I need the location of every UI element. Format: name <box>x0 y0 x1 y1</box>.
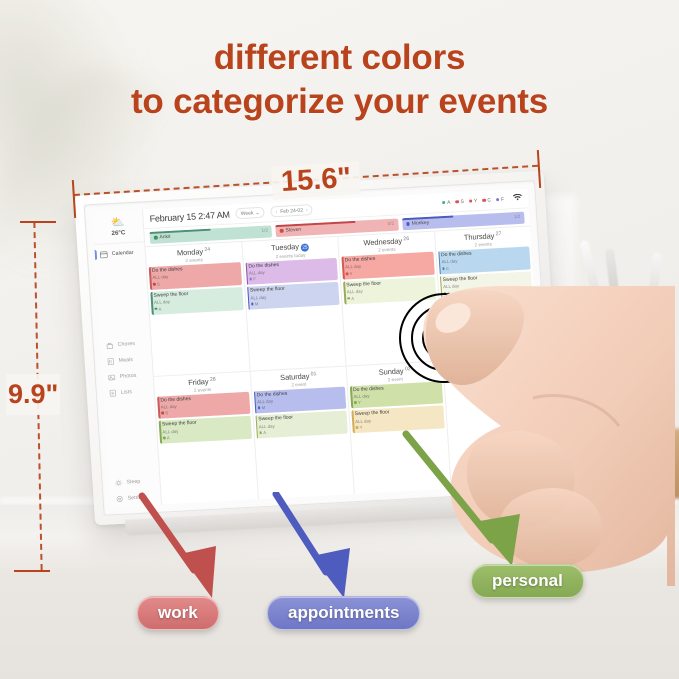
meals-icon <box>106 357 115 365</box>
day-name: Tuesday <box>271 242 299 252</box>
category-pill-personal: personal <box>471 564 584 598</box>
day-events-list: Do the dishesALL dayMSweep the floorALL … <box>253 386 347 438</box>
assignee-color-dot <box>347 297 350 300</box>
sidebar-item-label: Settings <box>127 494 147 501</box>
person-initial: Y <box>474 198 478 204</box>
day-column-next[interactable]: NextMar 03 <box>443 356 547 489</box>
person-initial: S <box>460 198 464 204</box>
day-number: 26 <box>403 236 409 242</box>
week-row: Friday282 eventsDo the dishesALL daySSwe… <box>154 355 547 505</box>
weather-widget[interactable]: ⛅ 26°C <box>92 209 144 245</box>
sidebar-item-calendar[interactable]: Calendar <box>94 244 145 263</box>
person-initial: A <box>447 199 451 205</box>
day-number: 28 <box>210 376 216 382</box>
dimension-width-label: 15.6" <box>271 161 361 199</box>
calendar-event[interactable]: Sweep the floorALL dayY <box>351 406 444 434</box>
photos-icon <box>107 373 116 381</box>
calendar-event[interactable]: Do the dishesALL dayC <box>438 246 531 274</box>
calendar-icon <box>100 250 109 258</box>
assignee-color-dot <box>259 431 262 434</box>
day-column-monday[interactable]: Monday242 eventsDo the dishesALL daySSwe… <box>145 242 250 375</box>
calendar-event[interactable]: Sweep the floorALL dayA <box>343 276 436 304</box>
member-name-wrap: Steven <box>280 227 302 234</box>
sidebar-item-settings[interactable]: Settings <box>110 489 161 508</box>
member-progress-bar <box>149 229 210 234</box>
calendar-event[interactable]: Do the dishesALL dayY <box>350 381 443 409</box>
people-filter-list: ASYCF <box>442 196 504 205</box>
day-name: Sunday <box>378 366 403 376</box>
week-row: Monday242 eventsDo the dishesALL daySSwe… <box>145 225 538 375</box>
person-filter-F[interactable]: F <box>496 196 505 202</box>
member-task-count: 1/2 <box>514 214 521 219</box>
day-name: Friday <box>188 376 209 386</box>
day-events-list: Do the dishesALL dayYSweep the floorALL … <box>341 252 435 304</box>
assignee-color-dot <box>257 407 260 410</box>
calendar-app: ⛅ 26°C CalendarChoresMealsPhotosListsSle… <box>92 188 546 507</box>
assignee-color-dot <box>251 303 254 306</box>
assignee-color-dot <box>345 272 348 275</box>
member-color-dot <box>154 236 158 240</box>
person-color-dot <box>469 199 473 203</box>
day-column-thursday[interactable]: Thursday272 eventsDo the dishesALL dayCS… <box>435 226 539 359</box>
person-initial: C <box>487 197 491 203</box>
day-column-wednesday[interactable]: Wednesday262 eventsDo the dishesALL dayY… <box>338 232 443 365</box>
calendar-event[interactable]: Sweep the floorALL dayA <box>150 287 243 315</box>
calendar-event[interactable]: Do the dishesALL dayY <box>341 252 434 280</box>
dimension-height-cap-top <box>20 221 56 223</box>
day-events-list: Do the dishesALL dayYSweep the floorALL … <box>350 381 444 433</box>
sidebar-item-label: Chores <box>117 340 135 347</box>
next-arrow-icon[interactable]: › <box>306 207 308 213</box>
day-events-list: Do the dishesALL dayFSweep the floorALL … <box>245 257 339 309</box>
main-panel: February 15 2:47 AM Week ⌄ ‹ Feb 24-02 ›… <box>143 188 547 504</box>
sun-cloud-icon: ⛅ <box>111 217 125 229</box>
wifi-icon <box>513 194 523 203</box>
assignee-color-dot <box>355 426 358 429</box>
topbar-spacer <box>319 203 436 209</box>
weather-temperature: 26°C <box>111 229 125 237</box>
day-number: 27 <box>496 231 502 237</box>
pen-holder <box>594 330 660 416</box>
sidebar-item-label: Sleep <box>126 479 140 486</box>
marketing-headline: different colors to categorize your even… <box>0 36 679 124</box>
day-name: Thursday <box>464 231 495 242</box>
view-selector[interactable]: Week ⌄ <box>235 207 265 220</box>
calendar-event[interactable]: Do the dishesALL dayM <box>253 386 346 414</box>
view-selector-label: Week <box>241 210 254 217</box>
assignee-color-dot <box>154 307 157 310</box>
person-color-dot <box>455 200 459 204</box>
category-pill-work: work <box>137 596 219 630</box>
smart-display-device: ⛅ 26°C CalendarChoresMealsPhotosListsSle… <box>74 171 565 526</box>
calendar-event[interactable]: Do the dishesALL dayS <box>157 391 250 419</box>
calendar-event[interactable]: Do the dishesALL dayS <box>149 262 242 290</box>
sidebar-item-label: Meals <box>119 357 134 364</box>
assignee-color-dot <box>153 283 156 286</box>
settings-icon <box>115 495 124 503</box>
assignee-color-dot <box>249 278 252 281</box>
day-number: 02 <box>405 366 411 372</box>
day-events-list: Do the dishesALL daySSweep the floorALL … <box>157 391 251 443</box>
member-name-wrap: Ankit <box>154 234 171 241</box>
day-name: Monday <box>177 247 204 257</box>
person-color-dot <box>442 201 446 205</box>
member-name: Steven <box>285 227 301 234</box>
date-range-nav[interactable]: ‹ Feb 24-02 › <box>270 204 313 217</box>
assignee-color-dot <box>163 437 166 440</box>
person-filter-C[interactable]: C <box>482 197 491 203</box>
headline-line-2: to categorize your events <box>0 80 679 124</box>
person-filter-A[interactable]: A <box>442 199 451 205</box>
sidebar-item-label: Calendar <box>112 250 134 257</box>
day-events-list: Do the dishesALL dayCSweep the floorALL … <box>438 246 532 298</box>
member-name-wrap: Monkey <box>406 220 429 227</box>
member-task-count: 1/2 <box>261 228 268 233</box>
assignee-color-dot <box>354 401 357 404</box>
week-grid: Monday242 eventsDo the dishesALL daySSwe… <box>145 225 546 504</box>
day-number-today: 25 <box>301 243 310 251</box>
day-number: 24 <box>204 247 210 253</box>
lists-icon <box>109 388 118 396</box>
day-events-list: Do the dishesALL daySSweep the floorALL … <box>149 262 243 314</box>
clock-datetime: February 15 2:47 AM <box>149 209 230 223</box>
date-range-label: Feb 24-02 <box>280 207 303 214</box>
day-column-sunday[interactable]: Sunday022 eventDo the dishesALL dayYSwee… <box>347 361 452 494</box>
device-screen: ⛅ 26°C CalendarChoresMealsPhotosListsSle… <box>92 188 546 507</box>
sidebar-item-label: Photos <box>120 372 137 379</box>
assignee-color-dot <box>443 292 446 295</box>
dimension-height-cap-bottom <box>14 570 50 572</box>
sidebar-spacer <box>104 398 159 475</box>
member-color-dot <box>280 229 284 233</box>
member-color-dot <box>406 222 410 226</box>
day-number: 01 <box>311 371 317 377</box>
prev-arrow-icon[interactable]: ‹ <box>275 209 277 215</box>
person-filter-S[interactable]: S <box>455 198 464 204</box>
sleep-icon <box>114 479 123 487</box>
person-initial: F <box>501 196 504 202</box>
headline-line-1: different colors <box>214 38 466 77</box>
person-color-dot <box>482 198 486 202</box>
day-name: Saturday <box>280 371 310 382</box>
person-color-dot <box>496 198 500 202</box>
calendar-event[interactable]: Do the dishesALL dayF <box>245 257 338 285</box>
chores-icon <box>105 341 114 349</box>
sidebar-item-lists[interactable]: Lists <box>103 382 154 401</box>
sidebar-spacer <box>95 260 150 337</box>
person-filter-Y[interactable]: Y <box>469 198 478 204</box>
wood-board <box>565 428 679 503</box>
calendar-event[interactable]: Sweep the floorALL dayM <box>247 282 340 310</box>
category-pill-appointments: appointments <box>267 596 420 630</box>
day-name: Next <box>483 361 499 371</box>
assignee-color-dot <box>442 267 445 270</box>
sidebar-item-label: Lists <box>121 389 133 396</box>
member-name: Monkey <box>412 220 430 227</box>
day-column-friday[interactable]: Friday282 eventsDo the dishesALL daySSwe… <box>154 371 259 504</box>
assignee-color-dot <box>161 412 164 415</box>
member-task-count: 0/2 <box>388 221 395 226</box>
member-name: Ankit <box>159 234 170 241</box>
calendar-event[interactable]: Sweep the floorALL dayA <box>255 411 348 439</box>
chevron-down-icon: ⌄ <box>255 209 260 215</box>
day-column-saturday[interactable]: Saturday012 eventDo the dishesALL dayMSw… <box>250 366 355 499</box>
calendar-event[interactable]: Sweep the floorALL dayA <box>439 271 532 299</box>
day-column-tuesday[interactable]: Tuesday252 events todayDo the dishesALL … <box>242 237 347 370</box>
calendar-event[interactable]: Sweep the floorALL dayA <box>159 416 252 444</box>
member-progress-bar <box>276 221 355 227</box>
dimension-height-label: 9.9" <box>6 374 60 415</box>
